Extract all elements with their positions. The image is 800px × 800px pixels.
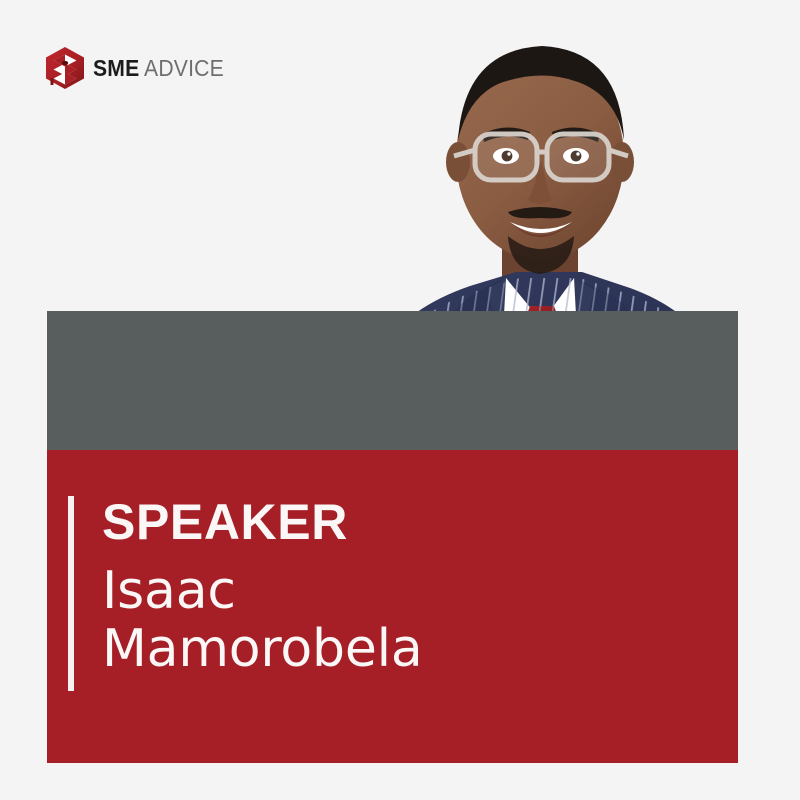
brand-wordmark: SMEADVICE: [93, 57, 224, 80]
brand-logo[interactable]: SMEADVICE: [44, 46, 235, 90]
accent-bar: [68, 496, 74, 691]
brand-name-light: ADVICE: [144, 55, 224, 81]
brand-name-bold: SME: [93, 55, 139, 81]
speaker-text-block: SPEAKER Isaac Mamorobela: [102, 496, 662, 678]
gray-band: [47, 311, 738, 450]
sme-advice-hexagon-icon: [44, 46, 86, 90]
speaker-kicker: SPEAKER: [102, 496, 662, 548]
speaker-name: Isaac Mamorobela: [102, 562, 662, 678]
poster-canvas: SMEADVICE: [0, 0, 800, 800]
